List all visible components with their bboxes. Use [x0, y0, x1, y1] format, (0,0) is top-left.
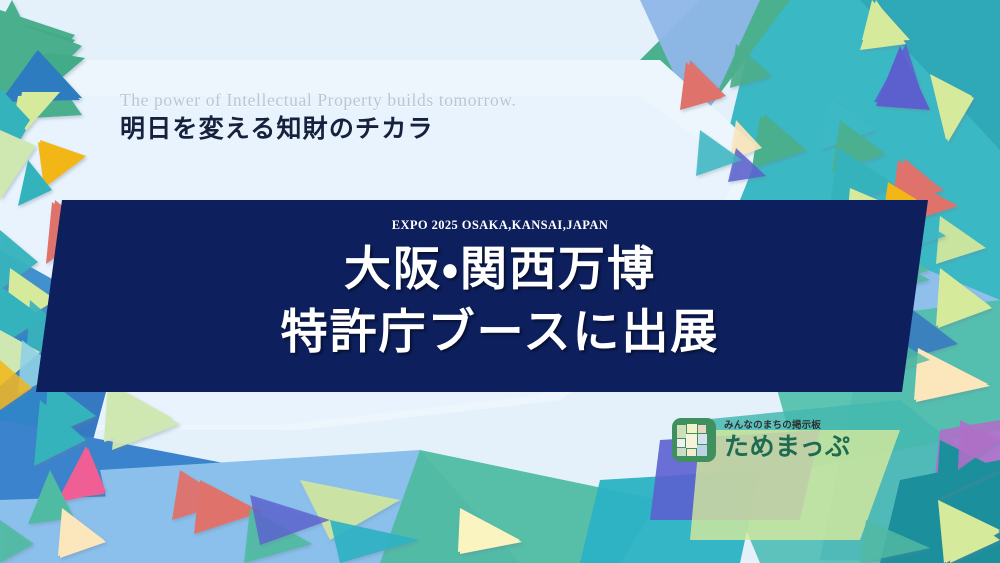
logo-name: ためまっぷ — [724, 434, 851, 459]
bulletin-board-icon — [672, 418, 716, 462]
logo-tagline: みんなのまちの掲示板 — [724, 421, 851, 431]
tamemap-logo[interactable]: みんなのまちの掲示板 ためまっぷ — [672, 418, 851, 462]
banner-shape — [0, 190, 1000, 405]
heading-block: The power of Intellectual Property build… — [120, 90, 516, 144]
poster-canvas: EXPO 2025 OSAKA,KANSAI,JAPAN 大阪・関西万博 特許庁… — [0, 0, 1000, 563]
japanese-tagline: 明日を変える知財のチカラ — [120, 114, 516, 144]
english-tagline: The power of Intellectual Property build… — [120, 90, 516, 110]
logo-wordblock: みんなのまちの掲示板 ためまっぷ — [724, 421, 851, 459]
